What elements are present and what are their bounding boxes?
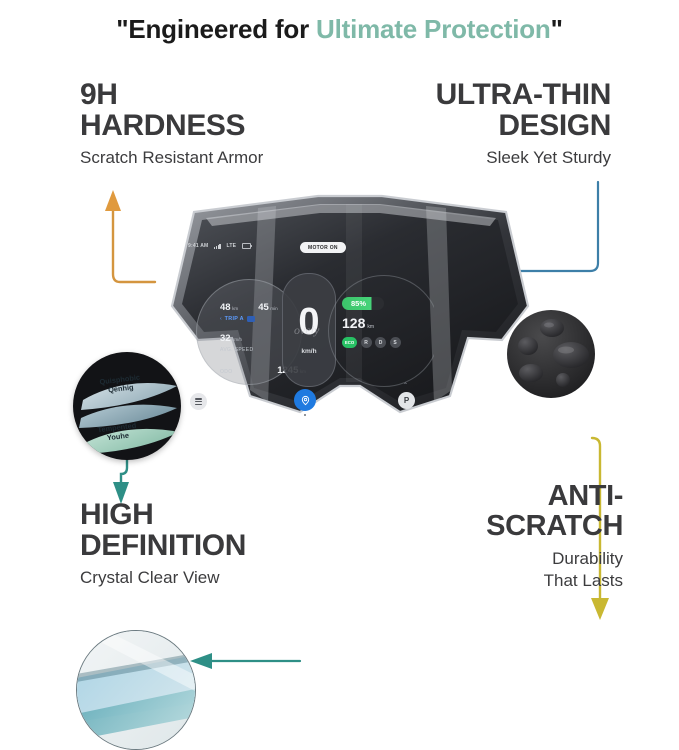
headline-accent: Ultimate Protection: [316, 14, 551, 44]
callout-hardness-title-1: 9H: [80, 80, 263, 111]
battery-panel: 85% 128km ECO R D S: [342, 297, 401, 348]
glass-layers-badge: Quisphobic Qenhig Tempented Youhe: [73, 352, 181, 460]
avg-speed-unit: km/h: [232, 337, 242, 342]
callout-high-definition-title-2: DEFINITION: [80, 531, 246, 562]
callout-hardness: 9H HARDNESS Scratch Resistant Armor: [80, 80, 263, 168]
park-button[interactable]: P: [398, 392, 415, 409]
drive-mode-d[interactable]: D: [375, 337, 386, 348]
callout-high-definition-title-1: HIGH: [80, 500, 246, 531]
drive-mode-r[interactable]: R: [361, 337, 372, 348]
headline-suffix: ": [551, 14, 563, 44]
pin-indicator-dot: [304, 414, 306, 416]
signal-bars-icon: [214, 244, 220, 249]
speed-unit: km/h: [301, 348, 316, 355]
trip-distance-unit: km: [232, 306, 238, 311]
battery-percent: 85%: [351, 299, 366, 308]
chevron-up-icon: ⌃: [403, 382, 408, 389]
callout-anti-scratch-subtitle-2: That Lasts: [486, 570, 623, 592]
dashboard-screen: 9:41 AM LTE MOTOR ON 48km 45min: [182, 235, 434, 425]
drive-mode-eco[interactable]: ECO: [342, 337, 357, 348]
location-pin-icon[interactable]: [294, 389, 316, 411]
odo-label: ODO: [220, 369, 233, 375]
trip-duration-unit: min: [270, 306, 277, 311]
trip-duration-value: 45: [258, 302, 269, 313]
callout-high-definition: HIGH DEFINITION Crystal Clear View: [80, 500, 246, 588]
callout-ultra-thin-subtitle: Sleek Yet Sturdy: [436, 148, 611, 168]
callout-anti-scratch-subtitle-1: Durability: [486, 548, 623, 570]
range-value: 128: [342, 315, 365, 331]
drive-mode-selector[interactable]: ECO R D S: [342, 337, 401, 348]
callout-hardness-title-2: HARDNESS: [80, 111, 263, 142]
callout-anti-scratch: ANTI- SCRATCH Durability That Lasts: [486, 482, 623, 592]
callout-high-definition-subtitle: Crystal Clear View: [80, 568, 246, 588]
infographic-canvas: "Engineered for Ultimate Protection" 9H …: [0, 0, 679, 679]
avg-speed-value: 32: [220, 333, 231, 344]
callout-anti-scratch-title-1: ANTI-: [486, 482, 623, 512]
glass-badge-label-bottom-2: Youhe: [106, 430, 129, 442]
glass-layers-illustration: [76, 630, 196, 750]
menu-icon[interactable]: [190, 393, 207, 410]
headline-prefix: "Engineered for: [116, 14, 316, 44]
callout-anti-scratch-title-2: SCRATCH: [486, 512, 623, 542]
trip-prev-icon[interactable]: ‹: [220, 316, 222, 322]
status-bar: 9:41 AM LTE: [188, 243, 251, 249]
battery-bar: 85%: [342, 297, 384, 310]
range-unit: km: [367, 324, 374, 330]
trip-indicator-badge: [247, 316, 255, 322]
page-title: "Engineered for Ultimate Protection": [0, 14, 679, 45]
trip-distance-value: 48: [220, 302, 231, 313]
range-readout: 128km: [342, 315, 401, 331]
callout-hardness-subtitle: Scratch Resistant Armor: [80, 148, 263, 168]
status-network: LTE: [227, 243, 237, 249]
callout-ultra-thin: ULTRA-THIN DESIGN Sleek Yet Sturdy: [436, 80, 611, 168]
speed-value: 0: [298, 305, 319, 339]
callout-ultra-thin-title-2: DESIGN: [436, 111, 611, 142]
handlebar-control-pad[interactable]: [502, 305, 600, 403]
motor-status-badge: MOTOR ON: [300, 242, 346, 253]
status-time: 9:41 AM: [188, 243, 208, 249]
trip-name-label: TRIP A: [225, 316, 244, 322]
callout-ultra-thin-title-1: ULTRA-THIN: [436, 80, 611, 111]
battery-icon: [242, 243, 251, 249]
drive-mode-s[interactable]: S: [390, 337, 401, 348]
